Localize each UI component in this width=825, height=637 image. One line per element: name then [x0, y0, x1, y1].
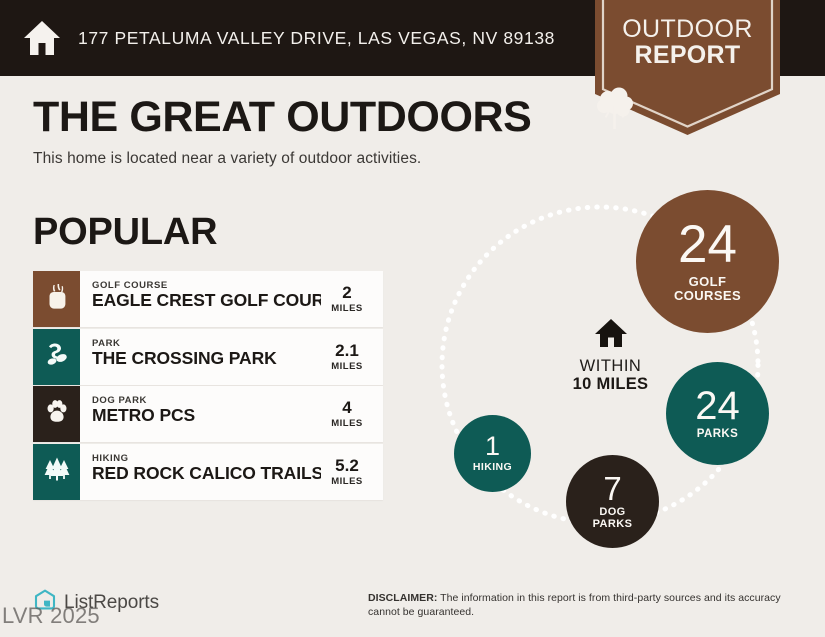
- golf-bag-icon: [45, 283, 69, 316]
- bubble-label-line-1: DOG: [593, 507, 633, 519]
- trees-icon: [43, 456, 71, 487]
- bubble-dog-parks[interactable]: 7 DOG PARKS: [566, 455, 659, 548]
- disclaimer-label: DISCLAIMER:: [368, 592, 437, 604]
- list-item-text: HIKING RED ROCK CALICO TRAILS: [80, 444, 321, 500]
- bubble-value: 24: [695, 387, 740, 425]
- bubble-label: GOLF COURSES: [674, 275, 741, 303]
- bubble-golf-courses[interactable]: 24 GOLF COURSES: [636, 190, 779, 333]
- list-item[interactable]: GOLF COURSE EAGLE CREST GOLF COURSE 2 MI…: [33, 271, 383, 327]
- diagram-center: WITHIN 10 MILES: [538, 318, 683, 394]
- list-item-text: DOG PARK METRO PCS: [80, 386, 321, 442]
- header-content: 177 PETALUMA VALLEY DRIVE, LAS VEGAS, NV…: [22, 0, 555, 76]
- bubble-value: 24: [678, 220, 737, 270]
- badge-line-2: REPORT: [595, 42, 780, 68]
- disclaimer: DISCLAIMER: The information in this repo…: [368, 591, 798, 619]
- list-item-name: RED ROCK CALICO TRAILS: [92, 464, 321, 483]
- bubble-hiking[interactable]: 1 HIKING: [454, 415, 531, 492]
- list-item[interactable]: HIKING RED ROCK CALICO TRAILS 5.2 MILES: [33, 444, 383, 500]
- list-item-name: METRO PCS: [92, 406, 321, 425]
- distance-value: 2.1: [335, 342, 359, 359]
- popular-list: GOLF COURSE EAGLE CREST GOLF COURSE 2 MI…: [33, 271, 383, 501]
- list-item-text: PARK THE CROSSING PARK: [80, 329, 321, 385]
- list-item-category: HIKING: [92, 453, 129, 464]
- page-subtitle: This home is located near a variety of o…: [33, 150, 421, 168]
- section-title-popular: POPULAR: [33, 213, 217, 251]
- bubble-label: HIKING: [473, 462, 512, 473]
- category-tile: [33, 386, 80, 442]
- distance-unit: MILES: [331, 303, 363, 314]
- badge-title: OUTDOOR REPORT: [595, 16, 780, 68]
- distance-unit: MILES: [331, 476, 363, 487]
- distance-unit: MILES: [331, 361, 363, 372]
- bubble-label: DOG PARKS: [593, 507, 633, 530]
- category-tile: [33, 271, 80, 327]
- list-item-distance: 2 MILES: [321, 271, 383, 327]
- park-icon: [44, 341, 70, 372]
- list-item[interactable]: PARK THE CROSSING PARK 2.1 MILES: [33, 329, 383, 385]
- bubble-value: 7: [603, 473, 621, 504]
- list-item-name: EAGLE CREST GOLF COURSE: [92, 291, 321, 310]
- distance-unit: MILES: [331, 418, 363, 429]
- distance-value: 4: [342, 399, 351, 416]
- within-10-miles-diagram: 24 GOLF COURSES 24 PARKS 7 DOG PARKS 1 H…: [420, 170, 825, 570]
- center-line-1: WITHIN: [538, 357, 683, 375]
- list-item-text: GOLF COURSE EAGLE CREST GOLF COURSE: [80, 271, 321, 327]
- bubble-label-line-2: COURSES: [674, 289, 741, 303]
- home-icon: [22, 19, 62, 57]
- badge-line-1: OUTDOOR: [595, 16, 780, 42]
- list-item-distance: 5.2 MILES: [321, 444, 383, 500]
- bubble-label-line-1: GOLF: [674, 275, 741, 289]
- bubble-value: 1: [485, 434, 500, 460]
- list-item-distance: 2.1 MILES: [321, 329, 383, 385]
- outdoor-report-page: 177 PETALUMA VALLEY DRIVE, LAS VEGAS, NV…: [0, 0, 825, 637]
- tree-icon: [595, 86, 780, 130]
- category-tile: [33, 444, 80, 500]
- center-line-2: 10 MILES: [538, 375, 683, 393]
- home-icon: [538, 318, 683, 353]
- category-tile: [33, 329, 80, 385]
- list-item[interactable]: DOG PARK METRO PCS 4 MILES: [33, 386, 383, 442]
- distance-value: 5.2: [335, 457, 359, 474]
- page-title: THE GREAT OUTDOORS: [33, 96, 531, 139]
- watermark: LVR 2025: [2, 603, 100, 629]
- distance-value: 2: [342, 284, 351, 301]
- bubble-label-line-2: PARKS: [593, 519, 633, 531]
- outdoor-report-badge: OUTDOOR REPORT: [595, 0, 780, 135]
- bubble-label: PARKS: [697, 428, 738, 440]
- paw-icon: [44, 399, 70, 430]
- list-item-name: THE CROSSING PARK: [92, 349, 321, 368]
- property-address: 177 PETALUMA VALLEY DRIVE, LAS VEGAS, NV…: [78, 28, 555, 49]
- list-item-category: PARK: [92, 338, 120, 349]
- list-item-distance: 4 MILES: [321, 386, 383, 442]
